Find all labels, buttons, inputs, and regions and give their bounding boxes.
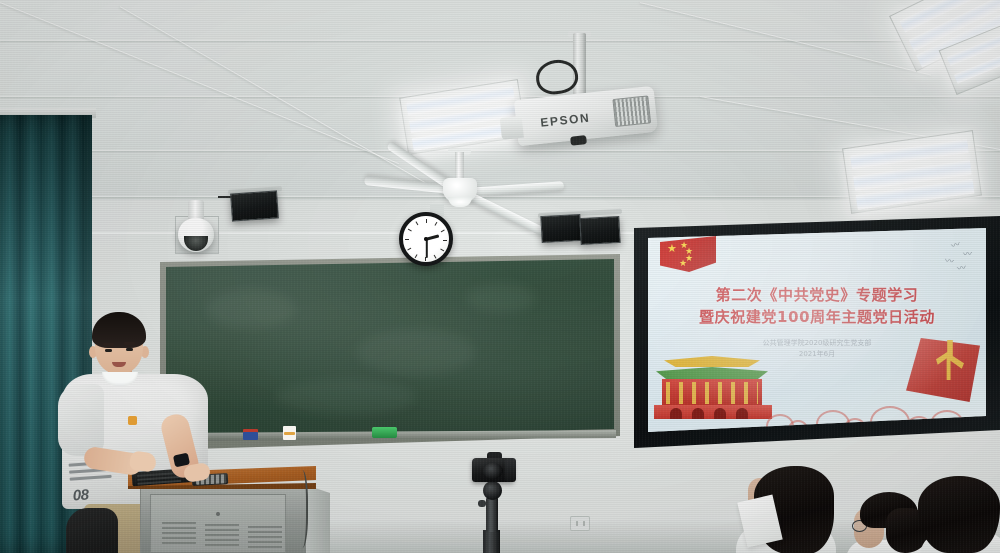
presenter-eyebrow (103, 343, 114, 346)
shirt-print-number: 08 (72, 486, 89, 504)
presentation-slide: ★ ★ ★ ★ ★ 〰 〰 〰 〰 第二次《中共党史》专题学习 暨庆祝建党100… (648, 228, 986, 432)
student-front-right (918, 476, 1000, 553)
tripod-lower-column (483, 530, 500, 553)
bird-graphic: 〰 (949, 237, 961, 252)
ceiling-seam (0, 40, 1000, 41)
gate-roof-upper (664, 356, 760, 367)
podium-vent (248, 526, 282, 548)
projector-brand-label: EPSON (540, 111, 591, 130)
tripod-lock-knob[interactable] (478, 500, 486, 507)
presenter-eye (105, 349, 112, 352)
chinese-flag-graphic: ★ ★ ★ ★ ★ (660, 236, 716, 272)
bird-graphic: 〰 (944, 253, 955, 267)
wall-speaker-left (230, 190, 279, 221)
presenter-hair (92, 312, 146, 348)
clock-center-pin (424, 237, 428, 241)
camera-grip (505, 458, 516, 482)
podium-vent (205, 524, 239, 546)
fan-downrod (455, 152, 464, 181)
podium-cable (294, 470, 308, 548)
chalk-eraser-blue[interactable] (243, 432, 258, 440)
projection-screen: ★ ★ ★ ★ ★ 〰 〰 〰 〰 第二次《中共党史》专题学习 暨庆祝建党100… (648, 228, 986, 432)
podium-lock[interactable] (216, 512, 220, 516)
chalk-box-label (284, 432, 295, 435)
chalk-eraser-green[interactable] (372, 427, 397, 438)
presenter-eye (126, 348, 133, 351)
slide-title: 第二次《中共党史》专题学习 暨庆祝建党100周年主题党日活动 (648, 284, 986, 328)
podium-vent (162, 522, 196, 544)
student-hair (918, 476, 1000, 553)
gate-roof-lower (656, 367, 768, 379)
camera-lens (483, 463, 503, 479)
projector-front (500, 116, 524, 140)
wall-speaker-right-a (540, 214, 581, 243)
clock-minute-hand (426, 239, 428, 258)
bird-graphic: 〰 (956, 260, 967, 274)
presenter-chest-logo (128, 416, 137, 425)
slide-title-line-2: 暨庆祝建党100周年主题党日活动 (648, 306, 986, 328)
tripod-column (486, 498, 498, 532)
presenter-eyebrow (124, 342, 135, 345)
presenter-bag (66, 508, 118, 553)
wall-clock (399, 212, 453, 266)
tripod-ball-head[interactable] (483, 481, 502, 500)
slide-title-line-1: 第二次《中共党史》专题学习 (648, 284, 986, 306)
green-chalkboard[interactable] (166, 259, 614, 440)
podium-side-panel (306, 485, 330, 553)
presenter-sleeve-left (58, 384, 104, 456)
bird-graphic: 〰 (963, 247, 973, 261)
power-outlet[interactable] (570, 516, 590, 531)
classroom-photo: EPSON (0, 0, 1000, 553)
wall-speaker-right-b (579, 216, 620, 245)
projector-vent (612, 95, 651, 127)
projector-lens (570, 135, 587, 146)
